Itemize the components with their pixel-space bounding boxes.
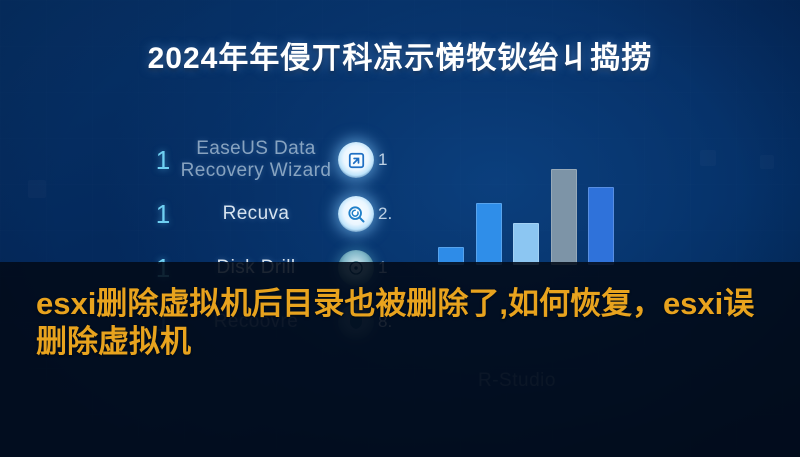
bar-3 [513,223,539,265]
software-name: Recuva [176,203,336,225]
bar-5 [588,187,614,265]
bar-2 [476,203,502,265]
recovery-wizard-icon [338,142,374,178]
bar-chart-bars [438,165,614,265]
rank-trailing-value: 1 [378,150,400,170]
list-item[interactable]: 1 Recuva 2. [150,187,400,241]
rank-number: 1 [150,145,176,176]
list-item[interactable]: 1 EaseUS Data Recovery Wizard 1 [150,133,400,187]
magnifier-icon [338,196,374,232]
software-name: EaseUS Data Recovery Wizard [176,138,336,182]
overlay-caption: esxi删除虚拟机后目录也被删除了,如何恢复，esxi误删除虚拟机 [36,285,772,361]
rank-number: 1 [150,199,176,230]
bar-4 [551,169,577,265]
page-title: 2024年年侵丌科凉示悌牧钬绐丩捣捞 [0,33,800,77]
rank-trailing-value: 2. [378,204,400,224]
banner-canvas: 2024年年侵丌科凉示悌牧钬绐丩捣捞 1 EaseUS Data Recover… [0,0,800,457]
bar-chart [438,165,614,265]
